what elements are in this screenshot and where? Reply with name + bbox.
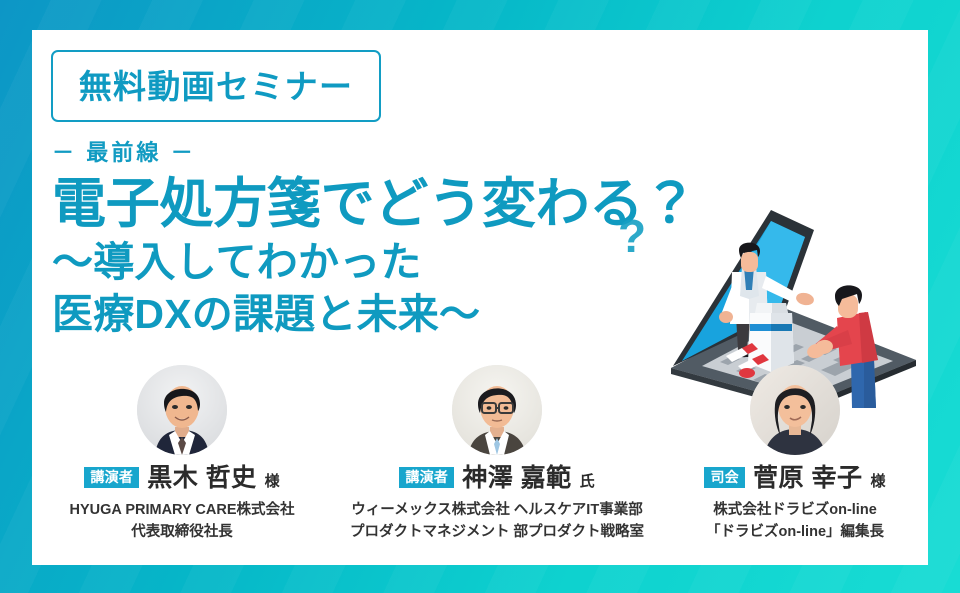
speaker-card: 講演者 神澤 嘉範 氏 ウィーメックス株式会社 ヘルスケアIT事業部 プロダクト… [332, 365, 662, 544]
speaker-name-row: 司会 菅原 幸子 様 [704, 466, 885, 491]
headline-line-1: 電子処方箋でどう変わる？ [52, 176, 712, 233]
speaker-role-chip: 司会 [704, 467, 745, 488]
avatar-kanzawa-yoshinori [452, 365, 542, 455]
speaker-affiliation-line-2: 代表取締役社長 [69, 522, 294, 544]
speaker-affiliation-line-2: 「ドラビズon-line」編集長 [706, 522, 884, 544]
speaker-card: 講演者 黒木 哲史 様 HYUGA PRIMARY CARE株式会社 代表取締役… [32, 365, 332, 544]
speaker-role-chip: 講演者 [84, 467, 139, 488]
headline-kicker: － 最前線 － [52, 142, 712, 164]
speaker-name-row: 講演者 黒木 哲史 様 [84, 466, 279, 491]
speaker-name: 神澤 嘉範 [462, 466, 571, 491]
speaker-affiliation-line-2: プロダクトマネジメント 部プロダクト戦略室 [350, 522, 644, 544]
speaker-affiliation-line-1: 株式会社ドラビズon-line [713, 502, 877, 518]
content-card: 無料動画セミナー － 最前線 － 電子処方箋でどう変わる？ 〜導入してわかった … [32, 30, 928, 565]
speaker-honorific: 氏 [580, 474, 595, 489]
seminar-type-badge-label: 無料動画セミナー [79, 70, 354, 103]
speaker-name-row: 講演者 神澤 嘉範 氏 [399, 466, 594, 491]
speaker-affiliation: 株式会社ドラビズon-line 「ドラビズon-line」編集長 [706, 500, 884, 544]
speaker-affiliation: ウィーメックス株式会社 ヘルスケアIT事業部 プロダクトマネジメント 部プロダク… [350, 500, 644, 544]
svg-text:?: ? [618, 210, 646, 262]
avatar-sugawara-sachiko [750, 365, 840, 455]
speaker-name: 菅原 幸子 [753, 466, 862, 491]
speaker-affiliation-line-1: HYUGA PRIMARY CARE株式会社 [69, 502, 294, 518]
speaker-card: 司会 菅原 幸子 様 株式会社ドラビズon-line 「ドラビズon-line」… [662, 365, 928, 544]
seminar-type-badge: 無料動画セミナー [51, 50, 381, 122]
headline-block: － 最前線 － 電子処方箋でどう変わる？ 〜導入してわかった 医療DXの課題と未… [52, 142, 712, 341]
speaker-name: 黒木 哲史 [147, 466, 256, 491]
headline-line-3: 医療DXの課題と未来〜 [52, 289, 712, 341]
webinar-banner: 無料動画セミナー － 最前線 － 電子処方箋でどう変わる？ 〜導入してわかった … [0, 0, 960, 593]
speaker-honorific: 様 [871, 474, 886, 489]
question-mark-decor: ? [618, 210, 646, 262]
speaker-list: 講演者 黒木 哲史 様 HYUGA PRIMARY CARE株式会社 代表取締役… [32, 365, 928, 565]
avatar-kuroki-tetsushi [137, 365, 227, 455]
speaker-honorific: 様 [265, 474, 280, 489]
speaker-affiliation-line-1: ウィーメックス株式会社 ヘルスケアIT事業部 [351, 502, 642, 518]
headline-line-2: 〜導入してわかった [52, 237, 712, 289]
speaker-role-chip: 講演者 [399, 467, 454, 488]
speaker-affiliation: HYUGA PRIMARY CARE株式会社 代表取締役社長 [69, 500, 294, 544]
